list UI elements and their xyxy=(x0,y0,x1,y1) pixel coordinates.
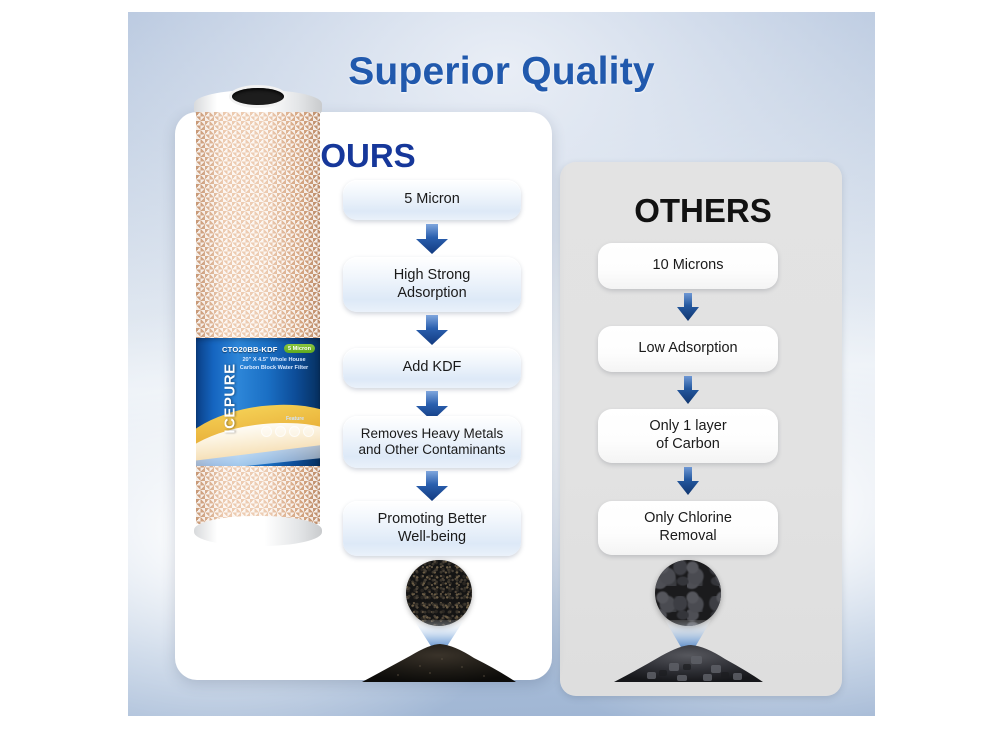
others-heading: OTHERS xyxy=(583,194,823,227)
feature-icon-2 xyxy=(275,426,286,437)
ours-step-2: High Strong Adsorption xyxy=(343,257,521,312)
ours-step-3-label: Add KDF xyxy=(343,359,521,377)
ours-step-2-label: High Strong Adsorption xyxy=(343,267,521,302)
others-step-3-label: Only 1 layer of Carbon xyxy=(598,418,778,453)
cartridge-bottom-cap xyxy=(194,516,322,546)
others-step-1: 10 Microns xyxy=(598,243,778,289)
ours-carbon-graphic xyxy=(358,560,518,680)
others-step-4: Only Chlorine Removal xyxy=(598,501,778,555)
label-description: 20" X 4.5" Whole House Carbon Block Wate… xyxy=(234,357,314,372)
label-description-line2: Carbon Block Water Filter xyxy=(234,365,314,373)
cartridge-label: CTO20BB-KDF 5 Micron 20" X 4.5" Whole Ho… xyxy=(196,338,320,466)
others-arrow-1-icon xyxy=(674,293,702,321)
ours-step-4-label: Removes Heavy Metals and Other Contamina… xyxy=(343,426,521,459)
others-arrow-2-icon xyxy=(674,376,702,404)
filter-cartridge: CTO20BB-KDF 5 Micron 20" X 4.5" Whole Ho… xyxy=(188,76,328,596)
others-step-2-label: Low Adsorption xyxy=(598,340,778,358)
others-step-1-label: 10 Microns xyxy=(598,257,778,275)
ours-step-1: 5 Micron xyxy=(343,180,521,220)
ours-step-1-label: 5 Micron xyxy=(343,191,521,209)
poster-canvas: Superior Quality OURS OTHERS 5 Micron Hi… xyxy=(128,12,875,716)
feature-icon-4 xyxy=(303,426,314,437)
others-step-4-label: Only Chlorine Removal xyxy=(598,510,778,545)
label-feature-icons xyxy=(261,426,314,437)
others-step-3: Only 1 layer of Carbon xyxy=(598,409,778,463)
ours-arrow-4-icon xyxy=(412,471,452,501)
feature-icon-3 xyxy=(289,426,300,437)
ours-step-4: Removes Heavy Metals and Other Contamina… xyxy=(343,416,521,468)
others-step-2: Low Adsorption xyxy=(598,326,778,372)
ours-carbon-pile xyxy=(358,642,518,682)
page-title: Superior Quality xyxy=(128,50,875,94)
ours-arrow-2-icon xyxy=(412,315,452,345)
others-magnified-circle xyxy=(655,560,721,626)
ours-step-3: Add KDF xyxy=(343,348,521,388)
feature-icon-1 xyxy=(261,426,272,437)
label-description-line1: 20" X 4.5" Whole House xyxy=(234,357,314,365)
ours-step-5-label: Promoting Better Well-being xyxy=(343,511,521,546)
others-carbon-graphic xyxy=(611,560,766,680)
ours-arrow-1-icon xyxy=(412,224,452,254)
label-feature-title: Feature xyxy=(286,416,304,422)
label-brand-name: ICEPURE xyxy=(222,347,239,451)
others-arrow-3-icon xyxy=(674,467,702,495)
others-carbon-pile xyxy=(611,642,766,682)
ours-step-5: Promoting Better Well-being xyxy=(343,501,521,556)
label-micron-badge: 5 Micron xyxy=(284,344,315,353)
ours-magnified-circle xyxy=(406,560,472,626)
